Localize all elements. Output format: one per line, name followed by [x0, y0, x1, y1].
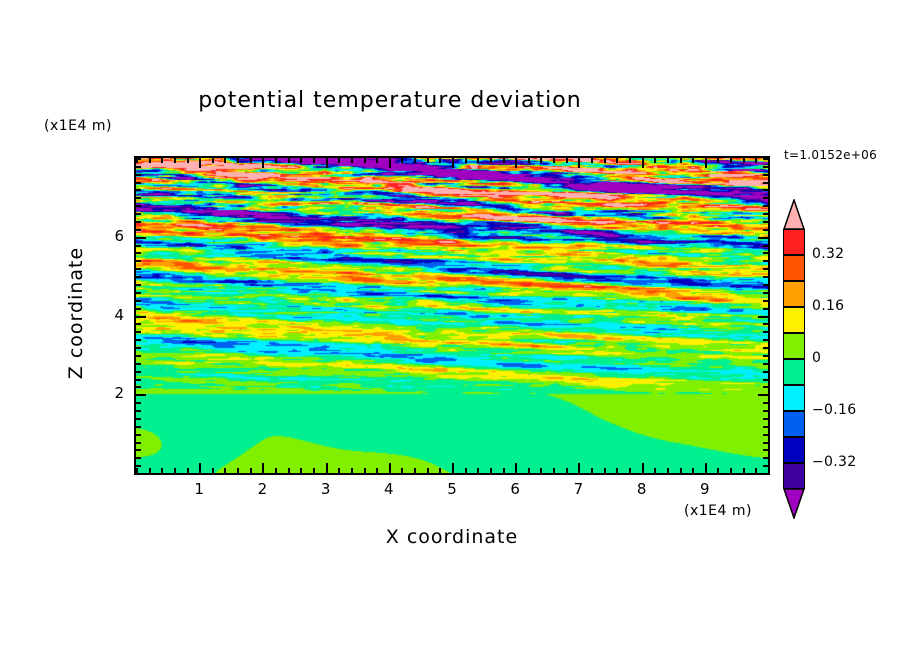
tick-mark	[212, 468, 214, 473]
tick-mark	[654, 158, 656, 163]
colorbar-under-cap	[783, 489, 805, 519]
tick-mark	[553, 468, 555, 473]
tick-mark	[136, 449, 141, 451]
tick-mark	[763, 347, 768, 349]
tick-mark	[755, 158, 757, 163]
tick-mark	[275, 158, 277, 163]
tick-mark	[768, 158, 770, 163]
page-title: potential temperature deviation	[0, 88, 780, 113]
tick-mark	[136, 237, 146, 239]
tick-mark	[763, 323, 768, 325]
tick-mark	[540, 468, 542, 473]
tick-mark	[401, 468, 403, 473]
tick-mark	[439, 158, 441, 163]
tick-mark	[250, 468, 252, 473]
tick-mark	[768, 468, 770, 473]
tick-mark	[262, 158, 264, 168]
tick-mark	[136, 410, 141, 412]
y-tick-label: 2	[104, 384, 124, 402]
tick-mark	[763, 410, 768, 412]
tick-mark	[401, 158, 403, 163]
tick-mark	[389, 158, 391, 168]
x-axis-title: X coordinate	[0, 526, 904, 548]
tick-mark	[680, 468, 682, 473]
tick-mark	[136, 252, 141, 254]
tick-mark	[414, 158, 416, 163]
tick-mark	[763, 434, 768, 436]
tick-mark	[763, 245, 768, 247]
tick-mark	[136, 229, 141, 231]
tick-mark	[490, 158, 492, 163]
tick-mark	[237, 158, 239, 163]
colorbar-over-cap	[783, 199, 805, 229]
tick-mark	[528, 468, 530, 473]
tick-mark	[730, 468, 732, 473]
tick-mark	[174, 158, 176, 163]
tick-mark	[427, 158, 429, 163]
colorbar-band	[783, 229, 805, 255]
tick-mark	[743, 468, 745, 473]
colorbar-band	[783, 359, 805, 385]
tick-mark	[515, 158, 517, 168]
tick-mark	[763, 418, 768, 420]
tick-mark	[763, 300, 768, 302]
tick-mark	[364, 468, 366, 473]
tick-mark	[439, 468, 441, 473]
tick-mark	[503, 158, 505, 163]
tick-mark	[566, 468, 568, 473]
tick-mark	[136, 402, 141, 404]
tick-mark	[763, 158, 768, 160]
tick-mark	[465, 468, 467, 473]
tick-mark	[262, 463, 264, 473]
colorbar-tick-label: −0.16	[812, 402, 856, 418]
tick-mark	[642, 463, 644, 473]
tick-mark	[743, 158, 745, 163]
tick-mark	[224, 468, 226, 473]
tick-mark	[763, 442, 768, 444]
y-tick-label: 6	[104, 227, 124, 245]
tick-mark	[717, 468, 719, 473]
tick-mark	[187, 468, 189, 473]
tick-mark	[338, 468, 340, 473]
x-tick-label: 5	[440, 480, 464, 498]
x-tick-label: 1	[187, 480, 211, 498]
tick-mark	[136, 174, 141, 176]
tick-mark	[288, 158, 290, 163]
tick-mark	[763, 402, 768, 404]
tick-mark	[237, 468, 239, 473]
tick-mark	[763, 260, 768, 262]
tick-mark	[540, 158, 542, 163]
tick-mark	[250, 158, 252, 163]
tick-mark	[667, 468, 669, 473]
colorbar-tick-label: 0	[812, 350, 821, 366]
colorbar-band	[783, 333, 805, 359]
tick-mark	[477, 468, 479, 473]
tick-mark	[136, 347, 141, 349]
colorbar	[783, 199, 805, 519]
tick-mark	[763, 284, 768, 286]
tick-mark	[136, 166, 141, 168]
tick-mark	[136, 245, 141, 247]
tick-mark	[758, 237, 768, 239]
tick-mark	[763, 182, 768, 184]
tick-mark	[136, 182, 141, 184]
tick-mark	[717, 158, 719, 163]
tick-mark	[136, 260, 141, 262]
tick-mark	[136, 434, 141, 436]
tick-mark	[566, 158, 568, 163]
colorbar-band	[783, 437, 805, 463]
tick-mark	[452, 158, 454, 168]
colorbar-band	[783, 255, 805, 281]
tick-mark	[680, 158, 682, 163]
tick-mark	[376, 468, 378, 473]
tick-mark	[692, 158, 694, 163]
tick-mark	[591, 468, 593, 473]
tick-mark	[136, 323, 141, 325]
tick-mark	[364, 158, 366, 163]
colorbar-band	[783, 307, 805, 333]
tick-mark	[136, 284, 141, 286]
tick-mark	[161, 468, 163, 473]
tick-mark	[763, 339, 768, 341]
tick-mark	[136, 386, 141, 388]
tick-mark	[591, 158, 593, 163]
tick-mark	[763, 252, 768, 254]
tick-mark	[755, 468, 757, 473]
tick-mark	[763, 229, 768, 231]
tick-mark	[763, 292, 768, 294]
tick-mark	[763, 449, 768, 451]
colorbar-band	[783, 463, 805, 489]
tick-mark	[578, 463, 580, 473]
tick-mark	[503, 468, 505, 473]
colorbar-band	[783, 385, 805, 411]
tick-mark	[490, 468, 492, 473]
colorbar-band	[783, 281, 805, 307]
tick-mark	[136, 331, 141, 333]
tick-mark	[452, 463, 454, 473]
x-tick-label: 4	[377, 480, 401, 498]
tick-mark	[136, 465, 141, 467]
z-unit-label: (x1E4 m)	[44, 118, 112, 134]
tick-mark	[288, 468, 290, 473]
tick-mark	[477, 158, 479, 163]
tick-mark	[313, 468, 315, 473]
colorbar-tick-label: 0.16	[812, 298, 844, 314]
tick-mark	[763, 268, 768, 270]
tick-mark	[136, 197, 141, 199]
tick-mark	[616, 158, 618, 163]
tick-mark	[730, 158, 732, 163]
tick-mark	[174, 468, 176, 473]
tick-mark	[136, 457, 141, 459]
tick-mark	[136, 371, 141, 373]
tick-mark	[414, 468, 416, 473]
tick-mark	[136, 268, 141, 270]
tick-mark	[136, 426, 141, 428]
tick-mark	[763, 221, 768, 223]
tick-mark	[763, 386, 768, 388]
tick-mark	[692, 468, 694, 473]
tick-mark	[300, 468, 302, 473]
tick-mark	[136, 158, 141, 160]
tick-mark	[763, 465, 768, 467]
x-tick-label: 3	[314, 480, 338, 498]
tick-mark	[389, 463, 391, 473]
tick-mark	[136, 418, 141, 420]
tick-mark	[763, 197, 768, 199]
tick-mark	[136, 292, 141, 294]
tick-mark	[528, 158, 530, 163]
tick-mark	[763, 371, 768, 373]
tick-mark	[136, 189, 141, 191]
tick-mark	[136, 363, 141, 365]
tick-mark	[275, 468, 277, 473]
tick-mark	[136, 300, 141, 302]
colorbar-band	[783, 411, 805, 437]
tick-mark	[515, 463, 517, 473]
tick-mark	[136, 308, 141, 310]
tick-mark	[136, 316, 146, 318]
time-annotation: t=1.0152e+06	[784, 148, 877, 162]
tick-mark	[758, 394, 768, 396]
tick-mark	[351, 158, 353, 163]
tick-mark	[465, 158, 467, 163]
tick-mark	[212, 158, 214, 163]
tick-mark	[629, 468, 631, 473]
tick-mark	[136, 213, 141, 215]
tick-mark	[763, 166, 768, 168]
tick-mark	[616, 468, 618, 473]
tick-mark	[667, 158, 669, 163]
tick-mark	[763, 363, 768, 365]
tick-mark	[313, 158, 315, 163]
y-tick-label: 4	[104, 306, 124, 324]
tick-mark	[604, 468, 606, 473]
tick-mark	[149, 158, 151, 163]
x-axis-title-text: X coordinate	[0, 526, 518, 548]
tick-mark	[136, 355, 141, 357]
tick-mark	[763, 213, 768, 215]
tick-mark	[654, 468, 656, 473]
contour-field-plot	[136, 158, 768, 473]
tick-mark	[136, 205, 141, 207]
x-tick-label: 9	[693, 480, 717, 498]
tick-mark	[224, 158, 226, 163]
tick-mark	[136, 221, 141, 223]
tick-mark	[629, 158, 631, 163]
tick-mark	[763, 379, 768, 381]
tick-mark	[604, 158, 606, 163]
tick-mark	[326, 463, 328, 473]
tick-mark	[199, 158, 201, 168]
tick-mark	[338, 158, 340, 163]
tick-mark	[758, 316, 768, 318]
tick-mark	[763, 355, 768, 357]
tick-mark	[763, 174, 768, 176]
tick-mark	[326, 158, 328, 168]
tick-mark	[763, 331, 768, 333]
y-axis-title: Z coordinate	[65, 213, 87, 413]
tick-mark	[136, 379, 141, 381]
x-tick-label: 2	[250, 480, 274, 498]
tick-mark	[705, 463, 707, 473]
tick-mark	[763, 473, 768, 475]
tick-mark	[578, 158, 580, 168]
tick-mark	[136, 276, 141, 278]
x-tick-label: 8	[630, 480, 654, 498]
tick-mark	[763, 276, 768, 278]
colorbar-tick-label: −0.32	[812, 454, 856, 470]
tick-mark	[161, 158, 163, 163]
tick-mark	[642, 158, 644, 168]
x-tick-label: 7	[566, 480, 590, 498]
tick-mark	[705, 158, 707, 168]
tick-mark	[553, 158, 555, 163]
tick-mark	[187, 158, 189, 163]
tick-mark	[427, 468, 429, 473]
tick-mark	[763, 189, 768, 191]
tick-mark	[351, 468, 353, 473]
tick-mark	[136, 473, 141, 475]
x-tick-label: 6	[503, 480, 527, 498]
tick-mark	[199, 463, 201, 473]
tick-mark	[136, 394, 146, 396]
tick-mark	[763, 457, 768, 459]
tick-mark	[376, 158, 378, 163]
x-unit-label: (x1E4 m)	[684, 503, 752, 519]
tick-mark	[300, 158, 302, 163]
tick-mark	[136, 339, 141, 341]
tick-mark	[763, 205, 768, 207]
tick-mark	[136, 442, 141, 444]
tick-mark	[763, 426, 768, 428]
tick-mark	[763, 308, 768, 310]
colorbar-tick-label: 0.32	[812, 246, 844, 262]
tick-mark	[149, 468, 151, 473]
